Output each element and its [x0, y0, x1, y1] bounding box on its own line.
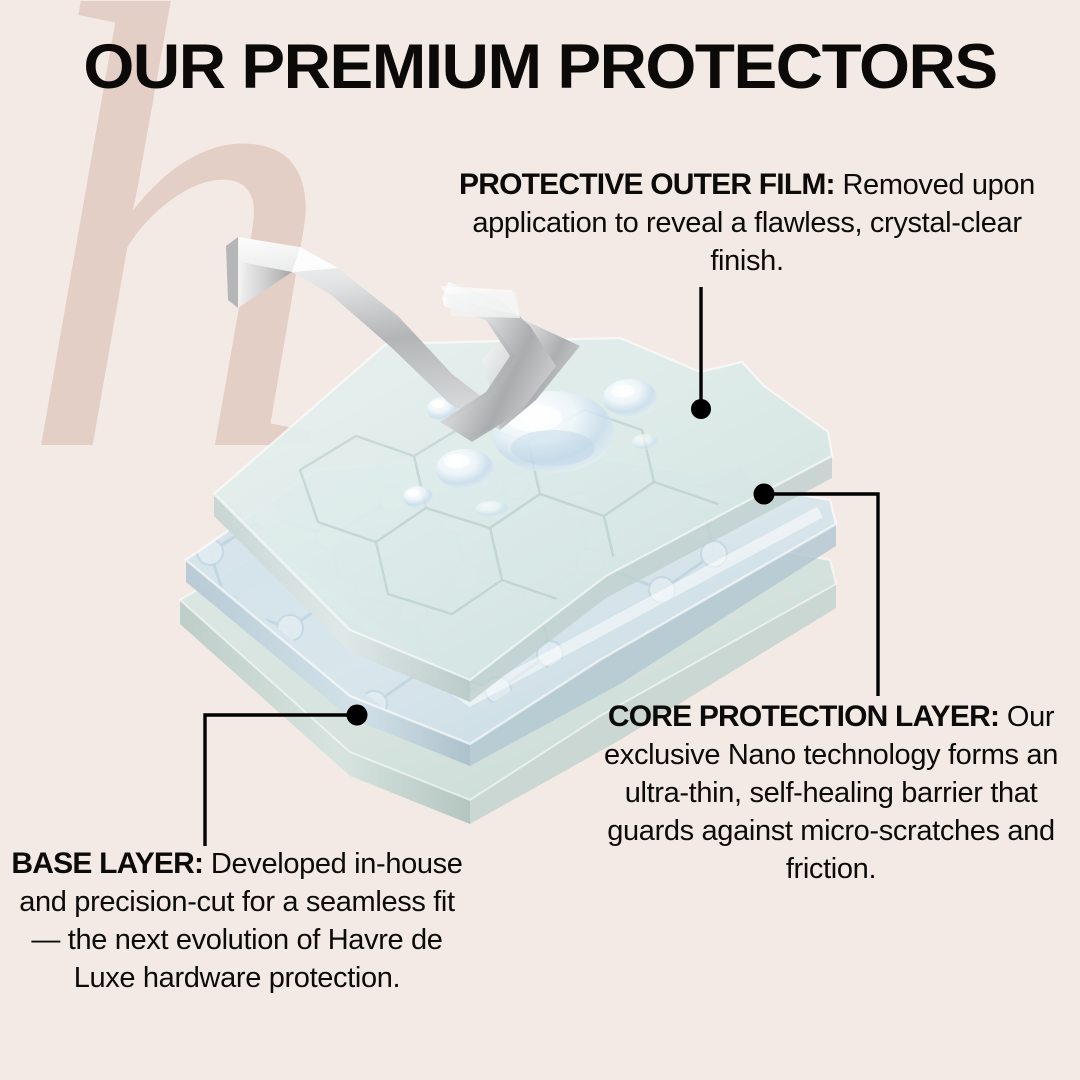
- infographic-canvas: h OUR PREMIUM PROTECTORS: [0, 0, 1080, 1080]
- callout-core-protection-layer: CORE PROTECTION LAYER: Our exclusive Nan…: [592, 698, 1070, 888]
- callout-core-heading: CORE PROTECTION LAYER:: [608, 700, 999, 733]
- callout-protective-outer-film: PROTECTIVE OUTER FILM: Removed upon appl…: [452, 166, 1042, 280]
- callout-base-layer: BASE LAYER: Developed in-house and preci…: [2, 845, 472, 997]
- callout-film-heading: PROTECTIVE OUTER FILM:: [459, 168, 835, 201]
- page-title: OUR PREMIUM PROTECTORS: [0, 34, 1080, 100]
- callout-base-heading: BASE LAYER:: [11, 847, 203, 880]
